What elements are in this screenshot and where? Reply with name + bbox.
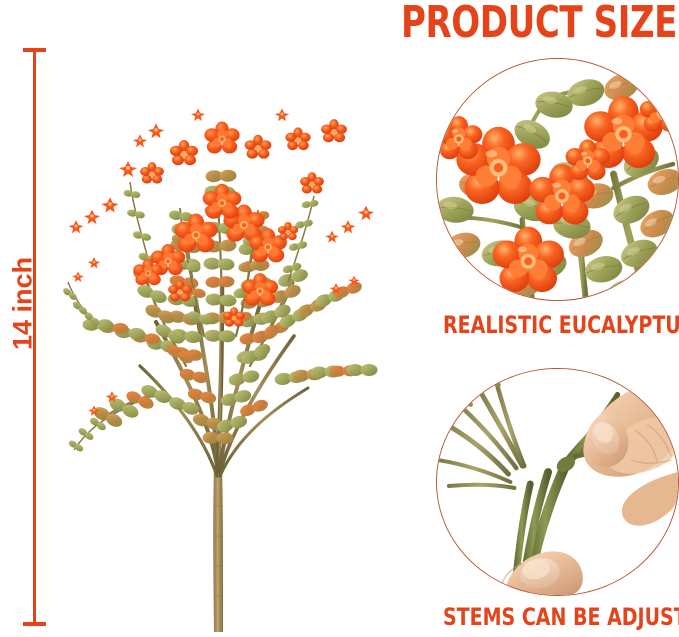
page-title: PRODUCT SIZE xyxy=(401,0,640,48)
product-infographic: PRODUCT SIZE 14 inch xyxy=(0,0,679,636)
caption-stems-can-be-adjusted: STEMS CAN BE ADJUSTED xyxy=(443,604,663,630)
product-image-main xyxy=(36,36,402,632)
inset-photo-flower-closeup xyxy=(436,58,679,301)
inset-photo-stem-bending xyxy=(436,368,679,596)
ruler-measurement-label: 14 inch xyxy=(10,249,37,359)
caption-realistic-eucalyptus: REALISTIC EUCALYPTUS xyxy=(443,312,663,338)
